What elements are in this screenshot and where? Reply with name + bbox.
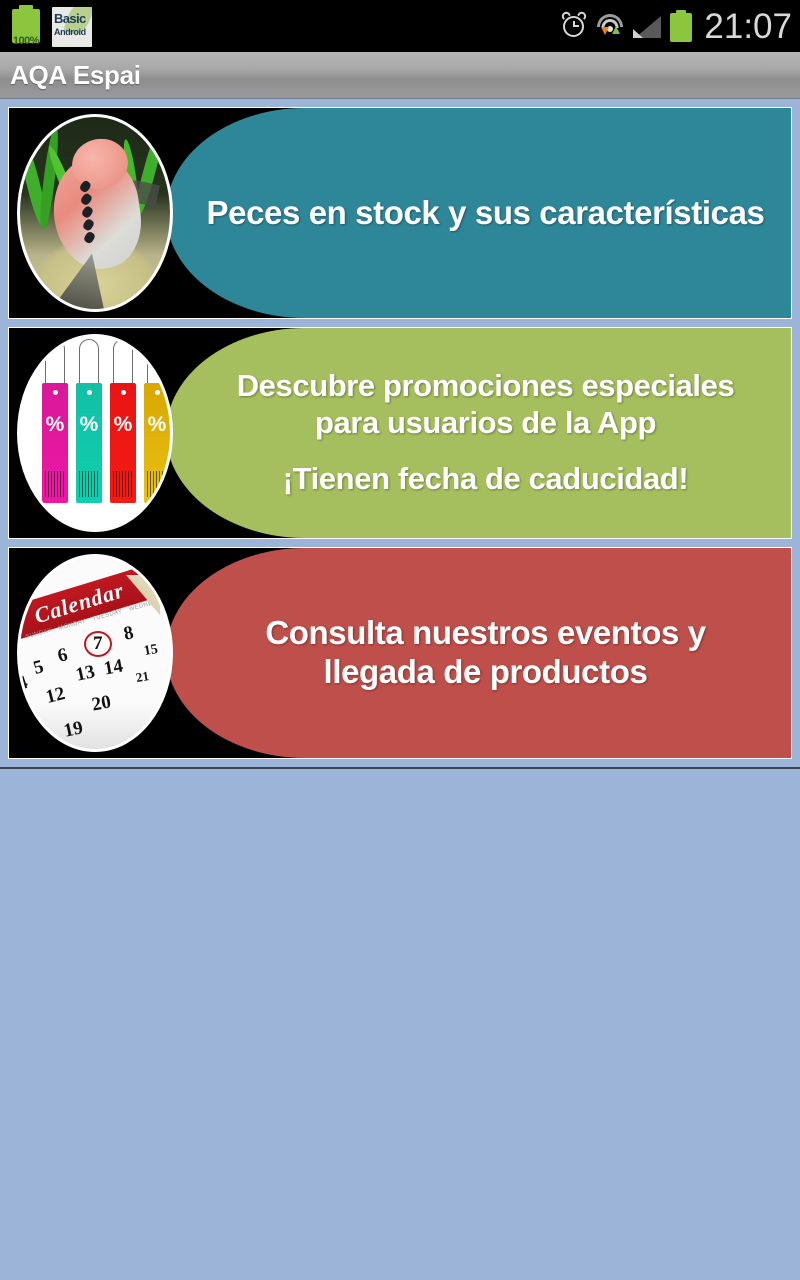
card-promotions[interactable]: % % % % (8, 327, 792, 539)
status-bar: 100% Basic Android 21:07 (0, 0, 800, 52)
content-divider (0, 767, 800, 769)
price-tag-red: % (110, 383, 136, 503)
basic4android-icon: Basic Android (52, 7, 92, 47)
card-line: ¡Tienen fecha de caducidad! (283, 461, 689, 498)
signal-icon (633, 14, 661, 38)
calendar-day: 6 (55, 644, 70, 668)
basic4android-label-bottom: Android (54, 27, 86, 37)
calendar-day: 8 (122, 622, 136, 645)
card-events[interactable]: Calendar SUNDAY MONDAY TUESDAY WEDNESDAY… (8, 547, 792, 759)
calendar-day: 5 (31, 656, 46, 680)
battery-percent-label: 100% (10, 35, 42, 47)
calendar-day: 15 (143, 642, 160, 660)
calendar-day: 13 (74, 661, 97, 686)
app-title-bar: AQA Espai (0, 52, 800, 99)
calendar-day: 14 (102, 656, 125, 681)
card-events-label: Consulta nuestros eventos y llegada de p… (194, 548, 777, 758)
card-line: llegada de productos (324, 653, 648, 692)
basic4android-label-top: Basic (54, 11, 86, 26)
card-line: para usuarios de la App (315, 405, 656, 442)
card-fish-stock[interactable]: Peces en stock y sus características (8, 107, 792, 319)
percent-symbol: % (76, 413, 102, 437)
data-upload-arrow-icon (612, 26, 620, 34)
calendar-photo: Calendar SUNDAY MONDAY TUESDAY WEDNESDAY… (17, 554, 173, 752)
card-line: Descubre promociones especiales (237, 368, 735, 405)
calendar-day: 21 (135, 668, 151, 686)
price-tag-magenta: % (42, 383, 68, 503)
battery-icon (670, 10, 692, 42)
price-tag-teal: % (76, 383, 102, 503)
card-line: Consulta nuestros eventos y (265, 614, 705, 653)
calendar-day: 4 (17, 672, 31, 696)
card-line: Peces en stock y sus características (207, 194, 765, 233)
price-tags-photo: % % % % (17, 334, 173, 532)
price-tag-gold: % (144, 383, 170, 503)
wifi-icon (596, 13, 624, 39)
percent-symbol: % (144, 413, 170, 437)
status-bar-right: 21:07 (561, 0, 792, 52)
fish-photo (17, 114, 173, 312)
card-fish-stock-label: Peces en stock y sus características (194, 108, 777, 318)
data-download-arrow-icon (601, 27, 609, 35)
battery-icon: 100% (10, 5, 42, 47)
card-list: Peces en stock y sus características % % (0, 99, 800, 759)
card-promotions-label: Descubre promociones especiales para usu… (194, 328, 777, 538)
status-bar-clock: 21:07 (701, 9, 792, 44)
percent-symbol: % (42, 413, 68, 437)
status-bar-left: 100% Basic Android (0, 5, 92, 47)
calendar-day-highlighted: 7 (93, 633, 103, 655)
percent-symbol: % (110, 413, 136, 437)
alarm-icon (561, 13, 587, 39)
page-title: AQA Espai (10, 60, 141, 91)
